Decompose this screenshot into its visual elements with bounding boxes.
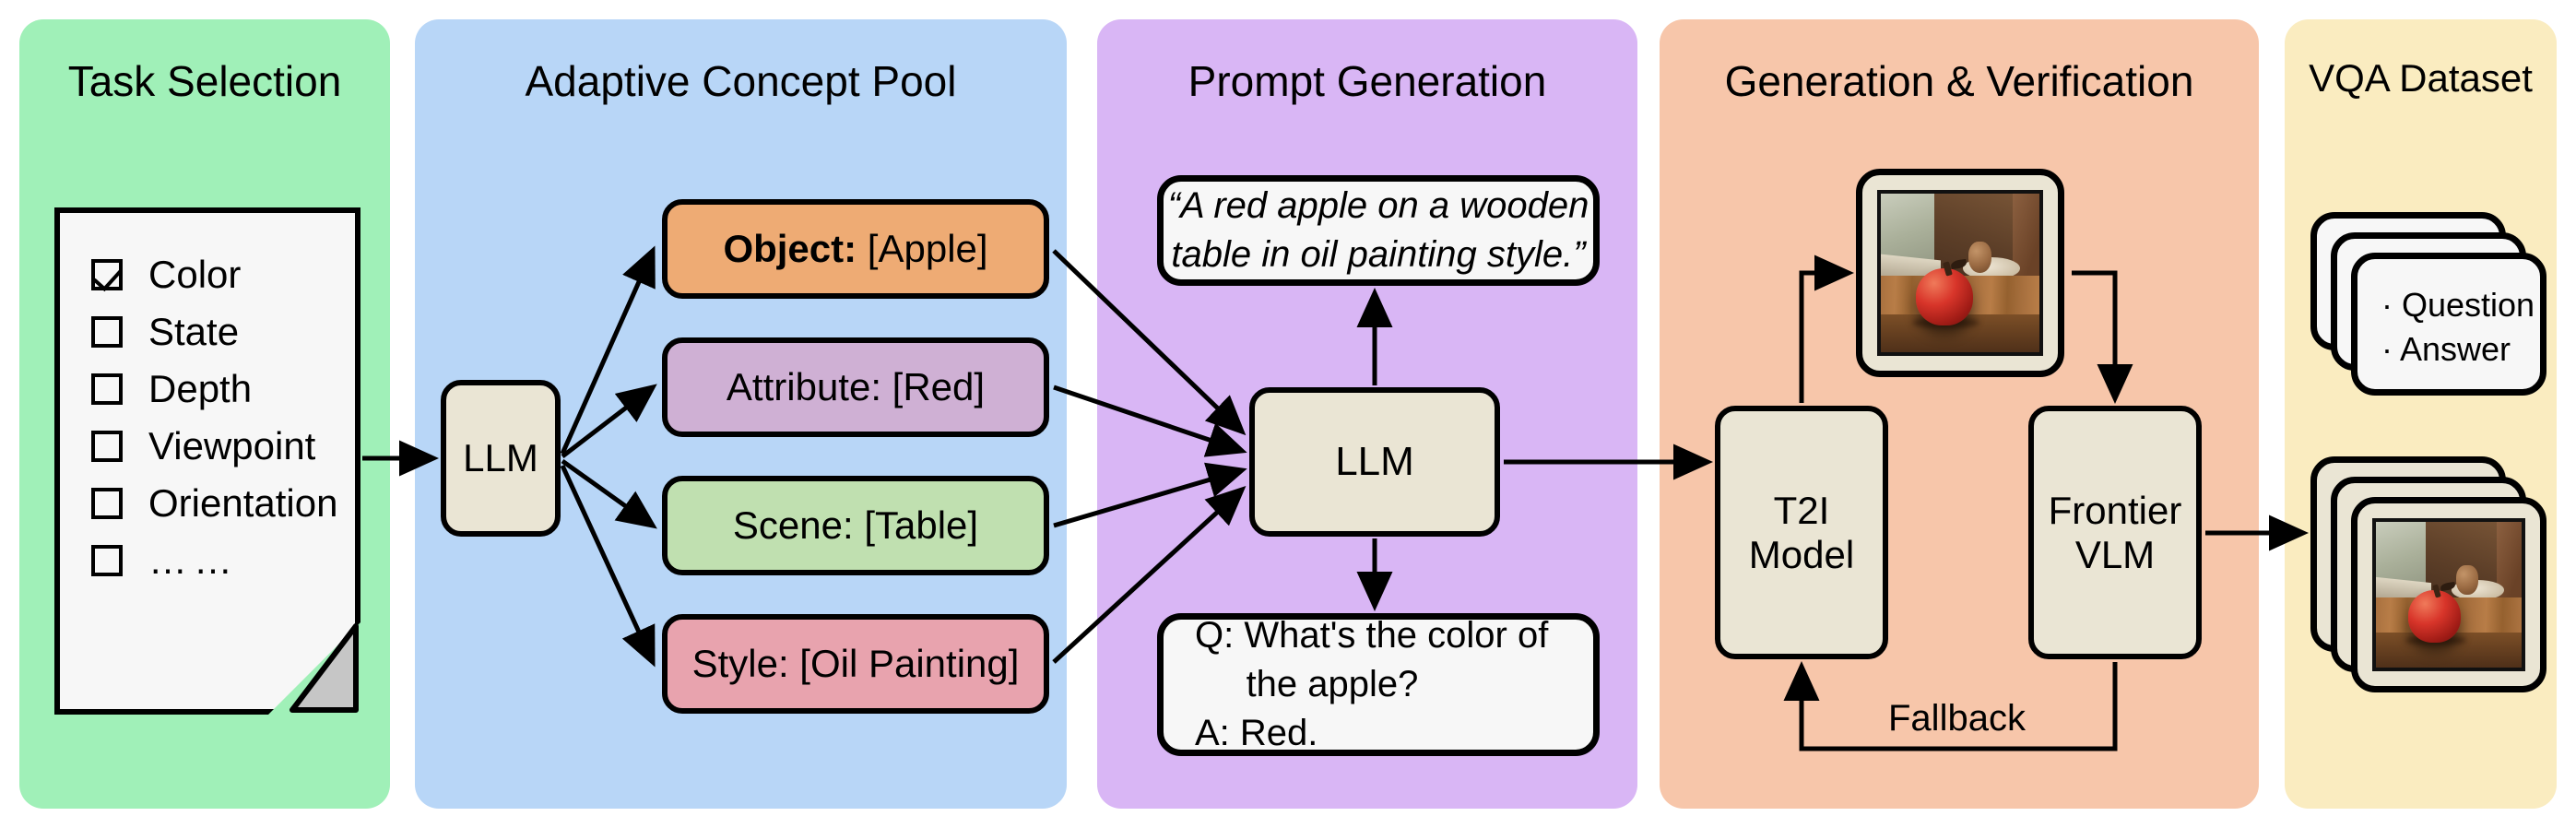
task-item-label: Viewpoint [148,424,315,468]
concept-box-label: Style: [Oil Painting] [692,642,1020,685]
llm-node-label: LLM [463,436,538,479]
checkbox-checked-icon[interactable] [91,259,123,290]
checkbox-icon[interactable] [91,373,123,405]
task-item-label: …… [148,538,239,583]
generated-prompt-bubble[interactable]: “A red apple on a wooden table in oil pa… [1157,175,1600,286]
task-item-label: Color [148,253,241,297]
vqa-qa-card-stack[interactable]: · Question · Answer [2310,212,2541,406]
panel-title-concept-pool: Adaptive Concept Pool [415,56,1067,106]
task-item-orientation[interactable]: Orientation [91,475,355,532]
checkbox-icon[interactable] [91,488,123,519]
concept-box-attribute[interactable]: Attribute: [Red] [662,337,1049,437]
qa-pair-text: Q: What's the color of the apple? A: Red… [1164,611,1565,757]
task-item-viewpoint[interactable]: Viewpoint [91,418,355,475]
llm-node-concept-pool[interactable]: LLM [441,380,561,537]
qa-card-front[interactable]: · Question · Answer [2351,253,2546,396]
concept-key: Object: [723,227,857,270]
frontier-vlm-node[interactable]: Frontier VLM [2028,406,2202,659]
task-item-depth[interactable]: Depth [91,361,355,418]
qa-pair-bubble[interactable]: Q: What's the color of the apple? A: Red… [1157,613,1600,756]
concept-box-style[interactable]: Style: [Oil Painting] [662,614,1049,714]
apple-painting-image [1881,194,2039,352]
llm-node-prompt-generation[interactable]: LLM [1249,387,1500,537]
vqa-image-card-stack[interactable] [2310,456,2550,715]
concept-box-object[interactable]: Object: [Apple] [662,199,1049,299]
pipeline-diagram: Task Selection Color State Depth Viewpoi… [0,0,2576,828]
generated-image-card[interactable] [1856,169,2064,377]
checkbox-icon[interactable] [91,316,123,348]
panel-title-task-selection: Task Selection [19,56,390,106]
concept-box-scene[interactable]: Scene: [Table] [662,476,1049,575]
page-fold-icon [265,619,360,715]
task-item-more[interactable]: …… [91,532,355,589]
panel-title-generation-verification: Generation & Verification [1660,56,2259,106]
task-item-color[interactable]: Color [91,246,355,303]
frontier-vlm-label: Frontier VLM [2049,489,2182,575]
concept-value: [Apple] [857,227,987,270]
task-item-state[interactable]: State [91,303,355,361]
image-card-front[interactable] [2351,497,2546,692]
task-item-label: State [148,310,239,354]
t2i-model-node[interactable]: T2I Model [1715,406,1888,659]
t2i-model-label: T2I Model [1749,489,1854,575]
task-item-label: Depth [148,367,252,411]
vqa-image-thumbnail [2372,518,2525,671]
concept-box-label: Object: [Apple] [723,227,987,270]
concept-box-label: Attribute: [Red] [727,365,985,408]
generated-prompt-text: “A red apple on a wooden table in oil pa… [1152,182,1606,279]
task-list-document: Color State Depth Viewpoint Orientation … [54,207,360,715]
checkbox-icon[interactable] [91,545,123,576]
fallback-edge-label: Fallback [1888,698,2026,739]
qa-card-text: · Question · Answer [2381,283,2535,371]
llm-node-label: LLM [1335,439,1414,484]
task-item-label: Orientation [148,481,337,526]
apple-painting-image [2376,522,2522,668]
generated-image-thumbnail [1877,190,2043,356]
panel-title-prompt-generation: Prompt Generation [1097,56,1637,106]
panel-title-vqa-dataset: VQA Dataset [2285,56,2557,101]
concept-box-label: Scene: [Table] [733,503,978,547]
checkbox-icon[interactable] [91,431,123,462]
